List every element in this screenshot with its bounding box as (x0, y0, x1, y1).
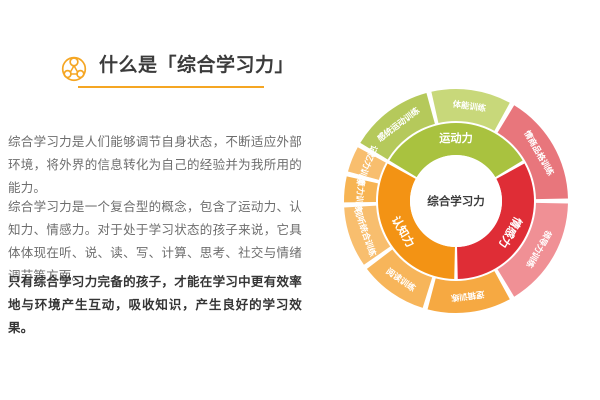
page-title-text: 什么是「综合学习力」 (99, 56, 294, 81)
title-underline (78, 86, 264, 88)
paragraph-3: 只有综合学习力完备的孩子，才能在学习中更有效率地与环境产生互动，吸收知识，产生良… (8, 271, 302, 340)
article-column: 什么是「综合学习力」 综合学习力是人们能够调节自身状态，不断适应外部环境，将外界… (0, 0, 340, 400)
paragraph-1: 综合学习力是人们能够调节自身状态，不断适应外部环境，将外界的信息转化为自己的经验… (8, 131, 302, 200)
learning-power-donut-chart: 感统运动训练体能训练情商品格训练领导力训练逻辑训练阅读训练视听统合训练注意力训练… (343, 88, 569, 314)
network-nodes-icon (58, 52, 90, 84)
page-title: 什么是「综合学习力」 (58, 52, 294, 84)
donut-center-label: 综合学习力 (427, 194, 485, 208)
page-root: 什么是「综合学习力」 综合学习力是人们能够调节自身状态，不断适应外部环境，将外界… (0, 0, 600, 400)
donut-segment-label: 运动力 (439, 131, 473, 145)
